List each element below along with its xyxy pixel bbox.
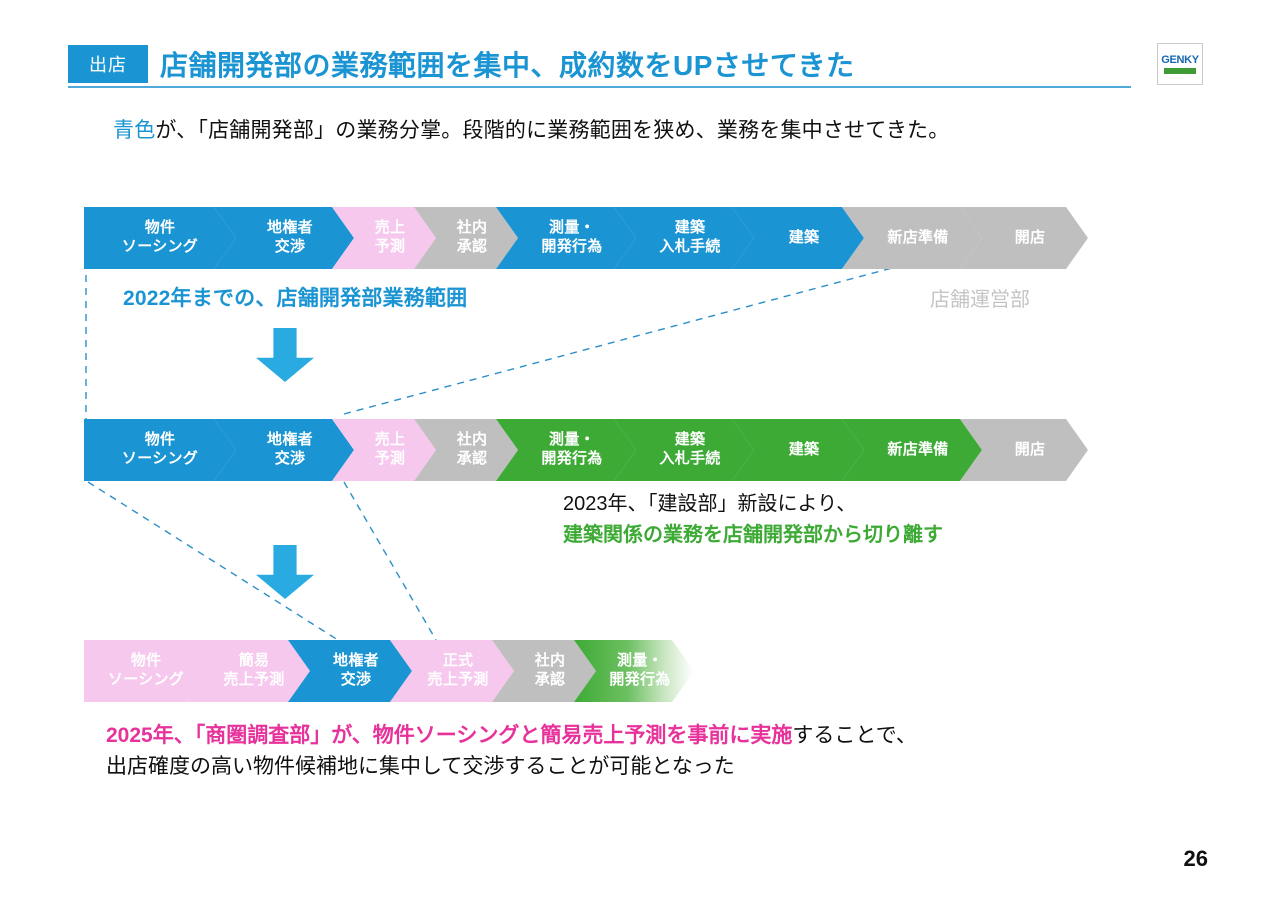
flow-step-label: 建築入札手続 — [647, 431, 720, 469]
subtitle: 青色が、「店舗開発部」の業務分掌。段階的に業務範囲を狭め、業務を集中させてきた。 — [113, 114, 949, 144]
flow-step-label: 地権者交渉 — [321, 652, 379, 690]
flow-step-3-1: 物件ソーシング — [84, 640, 208, 702]
flow-step-label: 地権者交渉 — [255, 219, 313, 257]
flow-step-label: 物件ソーシング — [122, 431, 198, 469]
slide-header: 出店 店舗開発部の業務範囲を集中、成約数をUPさせてきた GENKY — [0, 0, 1280, 100]
logo-text: GENKY — [1161, 55, 1199, 66]
flow-step-label: 測量・開発行為 — [529, 219, 602, 257]
annotation-2023-line1: 2023年、「建設部」新設により、 — [563, 487, 856, 516]
flow-step-label: 社内承認 — [445, 431, 488, 469]
flow-step-2-1: 物件ソーシング — [84, 419, 236, 481]
flow-step-1-1: 物件ソーシング — [84, 207, 236, 269]
flow-step-label: 新店準備 — [875, 229, 948, 248]
flow-step-label: 簡易売上予測 — [211, 652, 284, 690]
down-arrow-1 — [256, 328, 314, 382]
flow-step-label: 建築 — [777, 441, 820, 460]
bottom-note-line1-tail: することで、 — [792, 724, 917, 747]
page-title: 店舗開発部の業務範囲を集中、成約数をUPさせてきた — [160, 44, 855, 84]
flow-step-label: 売上予測 — [363, 431, 406, 469]
bottom-note-highlight: 2025年、「商圏調査部」が、物件ソーシングと簡易売上予測を事前に実施 — [106, 724, 792, 747]
flow-step-label: 開店 — [1003, 229, 1046, 248]
bottom-note-line1: 2025年、「商圏調査部」が、物件ソーシングと簡易売上予測を事前に実施することで… — [106, 719, 917, 749]
flow-row-2022: 物件ソーシング地権者交渉売上予測社内承認測量・開発行為建築入札手続建築新店準備開… — [84, 207, 1160, 269]
flow-step-label: 新店準備 — [875, 441, 948, 460]
genky-logo: GENKY — [1157, 43, 1203, 85]
flow-step-label: 建築 — [777, 229, 820, 248]
logo-green-bar — [1164, 68, 1196, 74]
flow-step-label: 社内承認 — [445, 219, 488, 257]
bottom-note-line2: 出店確度の高い物件候補地に集中して交渉することが可能となった — [106, 750, 735, 780]
subtitle-rest: が、「店舗開発部」の業務分掌。段階的に業務範囲を狭め、業務を集中させてきた。 — [155, 119, 949, 142]
annotation-2022-scope: 2022年までの、店舗開発部業務範囲 — [123, 282, 467, 312]
down-arrow-2 — [256, 545, 314, 599]
flow-step-label: 物件ソーシング — [122, 219, 198, 257]
flow-step-label: 売上予測 — [363, 219, 406, 257]
flow-step-label: 物件ソーシング — [108, 652, 184, 690]
page-number: 26 — [1184, 846, 1208, 872]
annotation-2023-line2: 建築関係の業務を店舗開発部から切り離す — [563, 518, 943, 547]
flow-step-label: 開店 — [1003, 441, 1046, 460]
header-divider — [68, 86, 1131, 88]
flow-step-label: 測量・開発行為 — [529, 431, 602, 469]
connector-diagonal-2 — [88, 482, 338, 640]
flow-step-label: 測量・開発行為 — [597, 652, 670, 690]
connector-diagonal-3 — [344, 482, 436, 640]
flow-step-label: 社内承認 — [523, 652, 566, 690]
flow-step-label: 建築入札手続 — [647, 219, 720, 257]
annotation-store-operations: 店舗運営部 — [930, 283, 1030, 312]
header-category-badge: 出店 — [68, 45, 148, 83]
flow-step-label: 地権者交渉 — [255, 431, 313, 469]
flow-step-label: 正式売上予測 — [415, 652, 488, 690]
flow-row-2023: 物件ソーシング地権者交渉売上予測社内承認測量・開発行為建築入札手続建築新店準備開… — [84, 419, 1160, 481]
flow-row-2025: 物件ソーシング簡易売上予測地権者交渉正式売上予測社内承認測量・開発行為 — [84, 640, 756, 702]
subtitle-accent: 青色 — [113, 119, 155, 142]
